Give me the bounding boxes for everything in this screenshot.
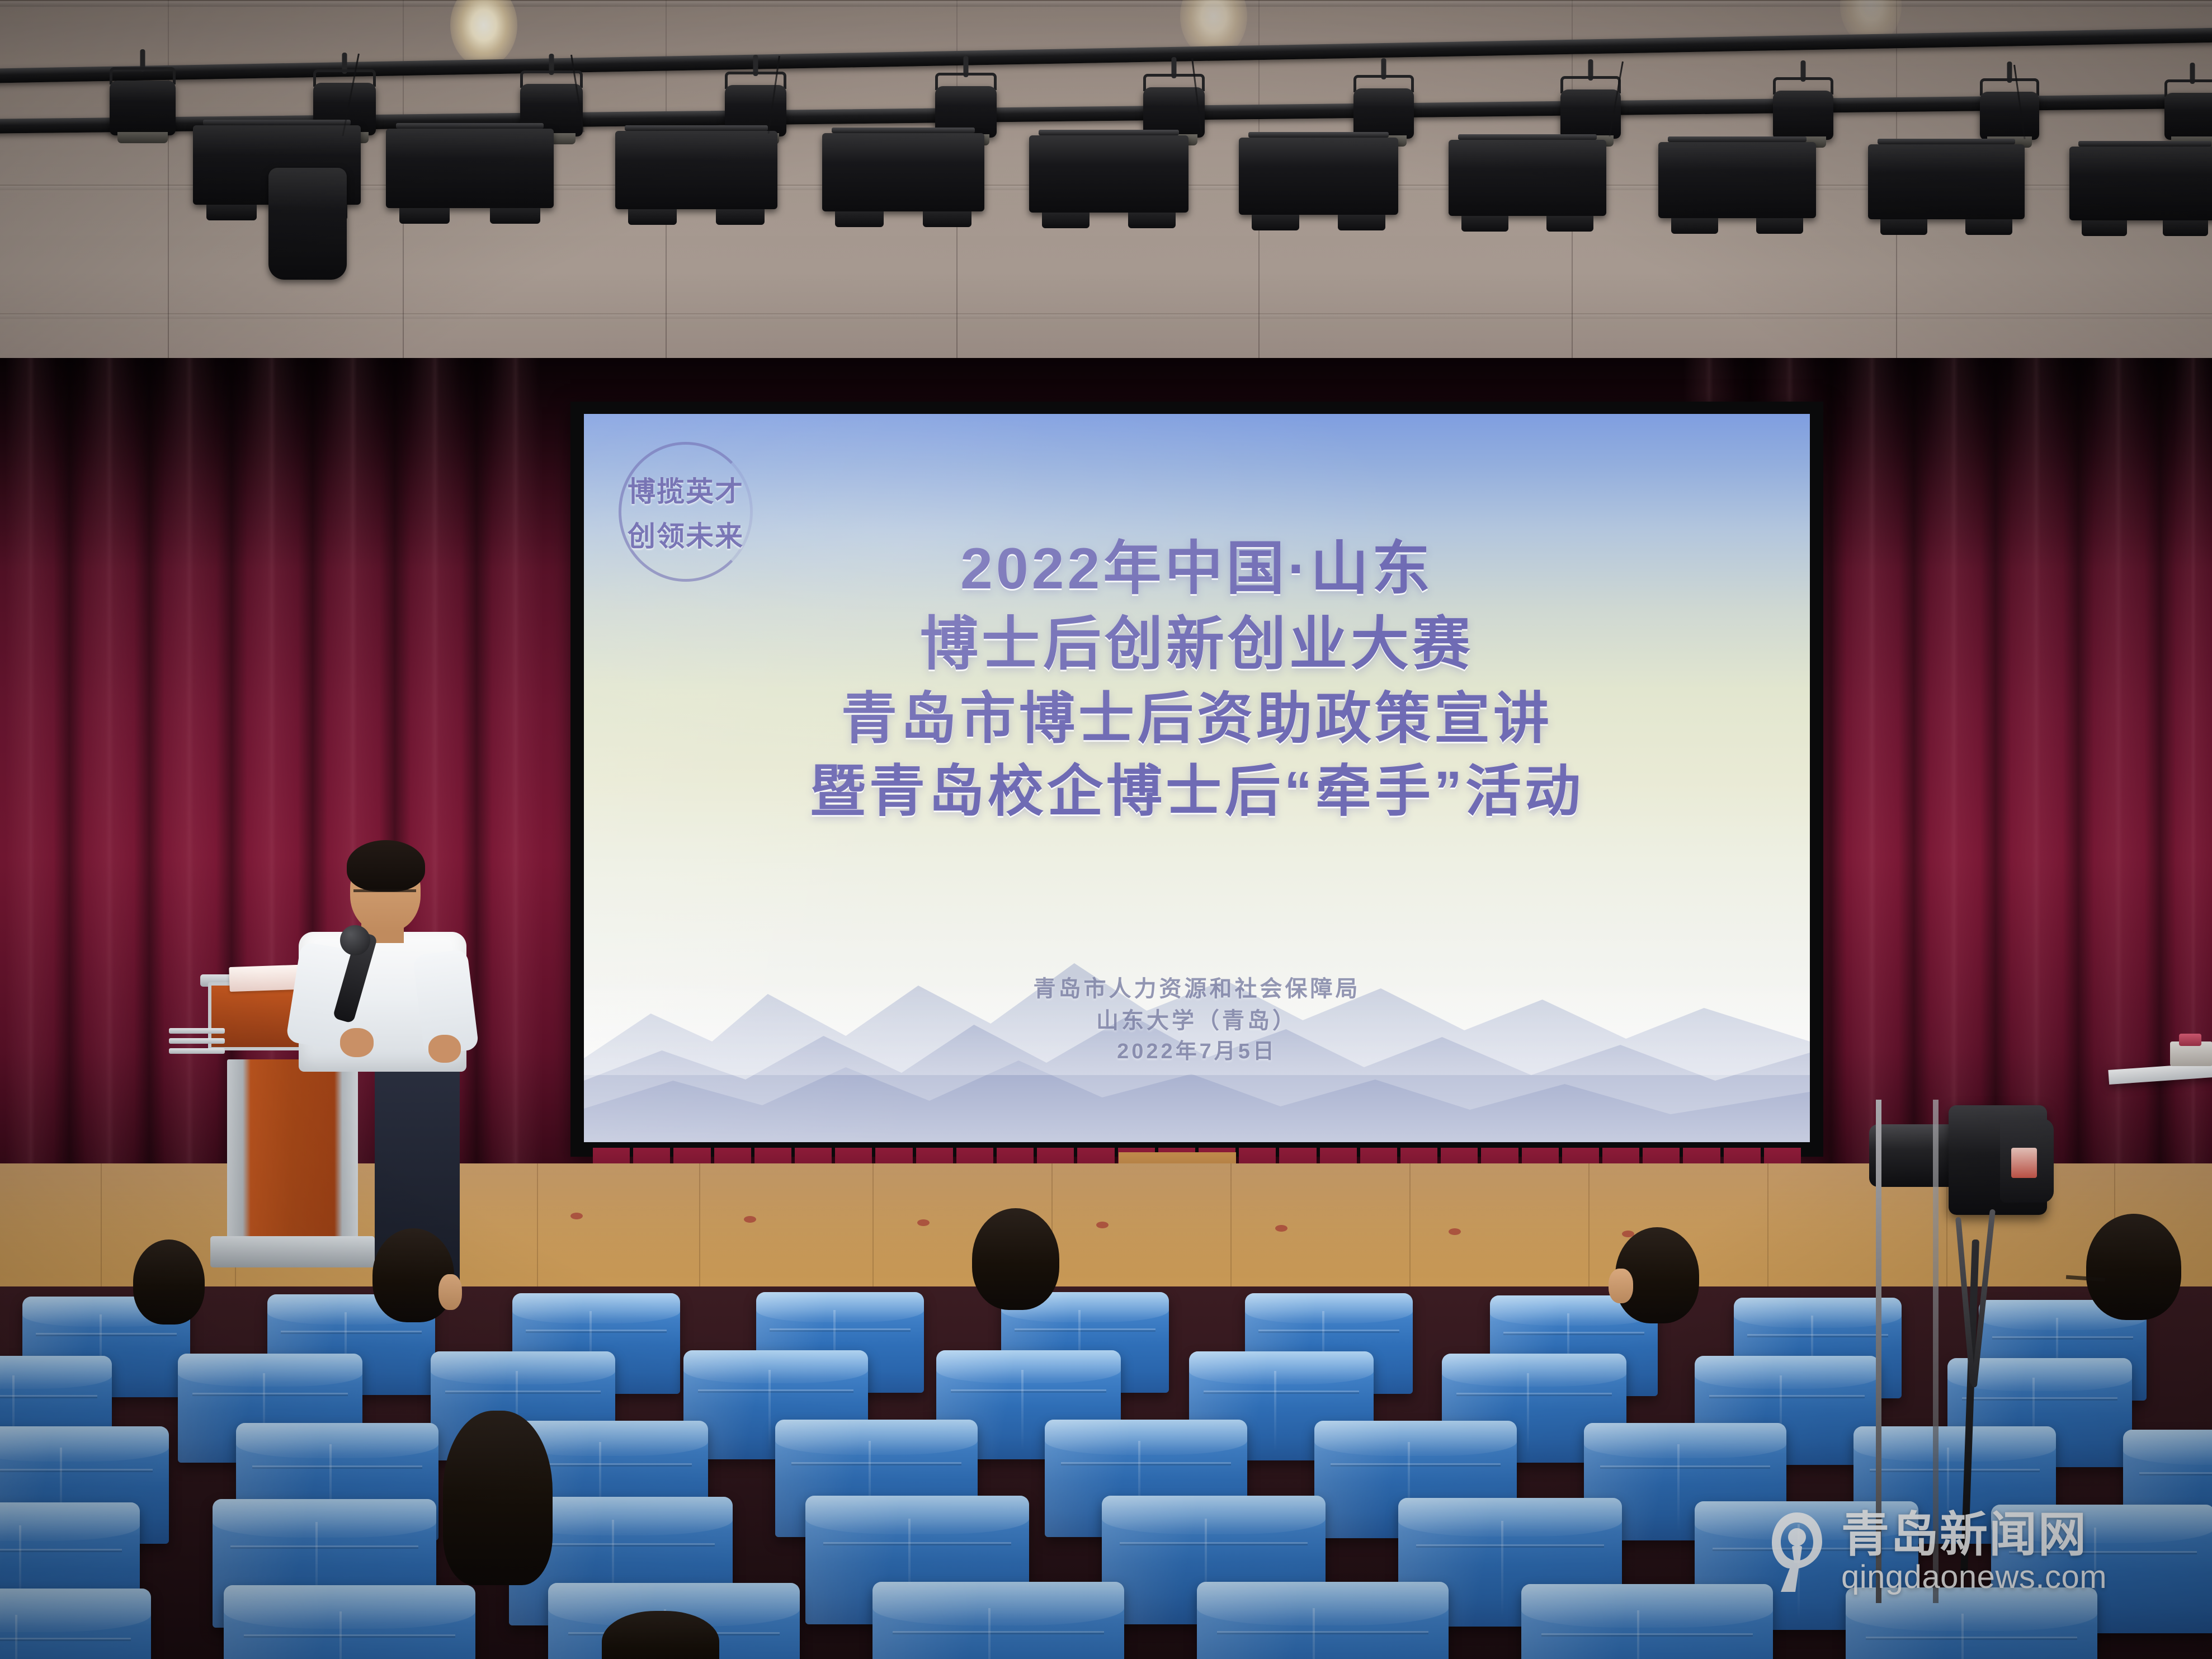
audience-head (443, 1411, 553, 1585)
stage-fresnel-light (1239, 134, 1398, 216)
speaker-hand (428, 1035, 461, 1063)
watermark-url: qingdaonews.com (1841, 1561, 2107, 1594)
speaker-hair (347, 840, 425, 892)
camera-badge (2011, 1148, 2037, 1178)
audience-head (133, 1239, 205, 1325)
stage-fresnel-light (386, 125, 554, 209)
speaker-hand (340, 1028, 374, 1057)
auditorium-photo: 博揽英才 创领未来 2022年中国·山东 博士后创新创业大赛 青岛市博士后资助政… (0, 0, 2212, 1659)
watermark-title: 青岛新闻网 (1841, 1510, 2107, 1560)
stage-fresnel-light (822, 130, 984, 213)
stage-fresnel-light (1029, 132, 1188, 214)
stage-spotlight (110, 68, 176, 135)
auditorium-seat (872, 1582, 1124, 1659)
auditorium-seat (224, 1585, 475, 1659)
stage-spotlight (1560, 77, 1621, 139)
table-item-red (2179, 1034, 2201, 1046)
stage-spotlight (2164, 81, 2212, 140)
stage-fresnel-light (1658, 139, 1816, 219)
stage-spotlight (1773, 78, 1833, 140)
eyeglasses-icon (353, 889, 416, 892)
auditorium-seat (1197, 1582, 1449, 1659)
site-watermark: 青岛新闻网 qingdaonews.com (1767, 1510, 2107, 1594)
stage-spotlight (1353, 76, 1414, 139)
stage-fresnel-light (615, 128, 777, 210)
projection-screen-frame: 博揽英才 创领未来 2022年中国·山东 博士后创新创业大赛 青岛市博士后资助政… (570, 402, 1823, 1157)
stage-fresnel-light (2069, 143, 2212, 221)
stage-spotlight (1980, 79, 2039, 140)
audience-face (1609, 1269, 1633, 1303)
slide-title-line: 青岛市博士后资助政策宣讲 (584, 682, 1810, 755)
slide-footer-block: 青岛市人力资源和社会保障局 山东大学（青岛） 2022年7月5日 (584, 973, 1810, 1067)
slide-title-block: 2022年中国·山东 博士后创新创业大赛 青岛市博士后资助政策宣讲 暨青岛校企博… (584, 531, 1810, 828)
slide-title-line: 暨青岛校企博士后“牵手”活动 (584, 755, 1810, 828)
slide-footer-line: 山东大学（青岛） (584, 1005, 1810, 1037)
badge-line-1: 博揽英才 (628, 469, 744, 510)
audience-head (2086, 1214, 2181, 1320)
projection-screen: 博揽英才 创领未来 2022年中国·山东 博士后创新创业大赛 青岛市博士后资助政… (584, 414, 1810, 1142)
slide-title-line: 博士后创新创业大赛 (584, 607, 1810, 682)
auditorium-seat (1521, 1584, 1773, 1659)
audience-face (438, 1274, 462, 1310)
audience-head (372, 1228, 454, 1322)
magnifier-person-icon (1767, 1510, 1827, 1594)
stage-profile-light (268, 168, 347, 280)
slide-footer-line: 青岛市人力资源和社会保障局 (584, 973, 1810, 1005)
slide-footer-line: 2022年7月5日 (584, 1037, 1810, 1067)
auditorium-seat (0, 1589, 151, 1659)
audience-head (972, 1208, 1059, 1310)
stage-fresnel-light (1449, 136, 1606, 217)
stage-fresnel-light (1868, 141, 2025, 220)
microphone-head (340, 925, 370, 955)
slide-title-line: 2022年中国·山东 (584, 531, 1810, 607)
